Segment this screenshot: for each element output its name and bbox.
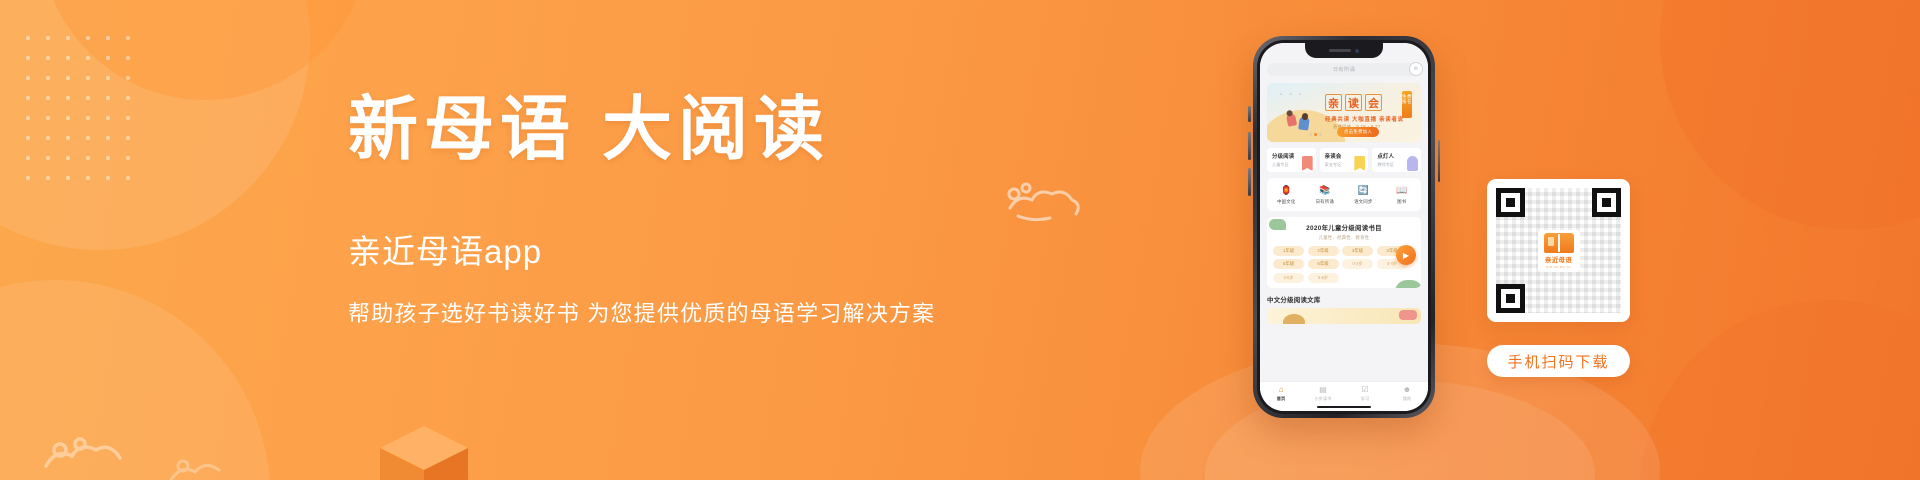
grade-pill[interactable]: 1年级 bbox=[1273, 246, 1304, 256]
phone-bezel: 日有所诵 ✉ ⌃ ⌃ ⌃ 亲 读 会 免费报名 bbox=[1257, 40, 1431, 414]
person-purple-icon bbox=[1407, 156, 1418, 171]
qr-finder-bottom-left bbox=[1496, 284, 1525, 313]
play-icon[interactable]: ▶ bbox=[1396, 245, 1416, 265]
qr-finder-top-right bbox=[1592, 188, 1621, 217]
hero-title: 亲 读 会 bbox=[1325, 94, 1382, 111]
books-icon: 📚 bbox=[1318, 184, 1331, 197]
carousel-dot[interactable] bbox=[1309, 133, 1312, 136]
decorative-cube bbox=[380, 426, 468, 480]
library-section-title: 中文分级阅读文库 bbox=[1267, 295, 1421, 304]
tab-label: 首页 bbox=[1277, 396, 1285, 402]
decorative-dot-grid bbox=[18, 28, 146, 193]
search-input[interactable]: 日有所诵 ✉ bbox=[1267, 63, 1421, 76]
tab-reading[interactable]: ▤ 小步读书 bbox=[1302, 386, 1344, 402]
grade-pill[interactable]: 2年级 bbox=[1308, 246, 1339, 256]
leaf-decoration-left bbox=[1269, 219, 1286, 230]
tagline: 帮助孩子选好书读好书 为您提供优质的母语学习解决方案 bbox=[348, 300, 1028, 329]
carousel-dot-active[interactable] bbox=[1314, 133, 1317, 136]
bookmark-red-icon bbox=[1302, 156, 1313, 171]
bookmark-yellow-icon bbox=[1354, 156, 1365, 171]
phone-volume-down-button bbox=[1248, 168, 1251, 196]
book-icon: 📖 bbox=[1395, 184, 1408, 197]
decorative-cloud-b bbox=[40, 432, 136, 476]
camera-icon bbox=[1355, 49, 1359, 53]
profile-icon: ☻ bbox=[1403, 386, 1411, 394]
app-home-screen: 日有所诵 ✉ ⌃ ⌃ ⌃ 亲 读 会 免费报名 bbox=[1260, 43, 1428, 411]
quick-link-label: 日有所诵 bbox=[1316, 199, 1334, 205]
speaker-icon bbox=[1329, 49, 1351, 52]
hero-title-char: 亲 bbox=[1325, 94, 1342, 111]
brand-pinyin: QIN JIN MU YU bbox=[1546, 265, 1571, 269]
tab-label: 学习 bbox=[1361, 396, 1369, 402]
hero-title-char: 读 bbox=[1345, 94, 1362, 111]
decorative-circle-top-left-2 bbox=[40, 0, 370, 100]
grade-pill[interactable]: 3年级 bbox=[1342, 246, 1373, 256]
library-card[interactable] bbox=[1267, 308, 1421, 324]
grade-pill[interactable]: 5年级 bbox=[1273, 259, 1304, 269]
quick-link-daily-recitation[interactable]: 📚 日有所诵 bbox=[1306, 184, 1345, 205]
booklist-section: 2020年儿童分级阅读书目 儿童性、经典性、教育性 1年级 2年级 3年级 4年… bbox=[1267, 217, 1421, 288]
hero-ribbon: 免费报名 bbox=[1402, 91, 1412, 118]
headline-part-2: 大阅读 bbox=[602, 92, 830, 169]
hero-birds-illustration: ⌃ ⌃ ⌃ bbox=[1279, 93, 1304, 99]
hero-child-illustration-2 bbox=[1298, 116, 1310, 130]
quick-links-row: 🏮 中国文化 📚 日有所诵 🔄 语文同步 📖 bbox=[1267, 178, 1421, 211]
hero-subtitle: 经典共读 大咖直播 亲读者说 bbox=[1325, 115, 1404, 123]
message-icon[interactable]: ✉ bbox=[1409, 62, 1423, 76]
carousel-dot[interactable] bbox=[1319, 133, 1322, 136]
category-card-teacher[interactable]: 点灯人 教师专区 bbox=[1372, 148, 1421, 172]
copy-block: 新母语大阅读 亲近母语app 帮助孩子选好书读好书 为您提供优质的母语学习解决方… bbox=[348, 96, 1028, 328]
search-placeholder: 日有所诵 bbox=[1333, 66, 1355, 73]
hero-title-char: 会 bbox=[1365, 94, 1382, 111]
home-indicator bbox=[1317, 406, 1371, 409]
decorative-circle-top-left bbox=[0, 0, 310, 250]
sync-icon: 🔄 bbox=[1357, 184, 1370, 197]
age-pill[interactable]: 5-6岁 bbox=[1308, 273, 1339, 283]
tab-home[interactable]: ⌂ 首页 bbox=[1260, 386, 1302, 402]
quick-link-label: 中国文化 bbox=[1277, 199, 1295, 205]
decorative-circle-top-right bbox=[1660, 0, 1920, 230]
decorative-circle-bottom-right bbox=[1640, 300, 1920, 480]
page-title: 新母语大阅读 bbox=[348, 96, 1028, 166]
tab-label: 我的 bbox=[1403, 396, 1411, 402]
hero-banner[interactable]: ⌃ ⌃ ⌃ 亲 读 会 免费报名 经典共读 大咖直播 亲读者说 直播回放 · 9… bbox=[1267, 83, 1421, 142]
qr-code-card: 亲近母语 QIN JIN MU YU bbox=[1487, 179, 1630, 322]
grade-pill[interactable]: 6年级 bbox=[1308, 259, 1339, 269]
phone-mockup: 日有所诵 ✉ ⌃ ⌃ ⌃ 亲 读 会 免费报名 bbox=[1253, 36, 1435, 418]
carousel-dots[interactable] bbox=[1309, 133, 1322, 136]
library-illustration bbox=[1283, 314, 1305, 324]
tab-study[interactable]: ☑ 学习 bbox=[1344, 386, 1386, 402]
category-cards: 分级阅读 儿童专区 亲读会 家长专区 点灯人 教师专区 bbox=[1267, 148, 1421, 172]
download-button[interactable]: 手机扫码下载 bbox=[1487, 345, 1630, 377]
tab-label: 小步读书 bbox=[1315, 396, 1332, 402]
app-name: 亲近母语app bbox=[348, 232, 1028, 272]
phone-volume-up-button bbox=[1248, 132, 1251, 160]
read-icon: ▤ bbox=[1319, 386, 1327, 394]
phone-power-button bbox=[1438, 140, 1441, 182]
age-pill[interactable]: 0-3岁 bbox=[1342, 259, 1373, 269]
phone-mute-switch bbox=[1248, 106, 1251, 122]
lantern-icon: 🏮 bbox=[1280, 184, 1293, 197]
open-book-icon bbox=[1544, 233, 1574, 253]
hero-join-button[interactable]: 点击免费加入 bbox=[1337, 127, 1379, 137]
age-pill[interactable]: 4-5岁 bbox=[1273, 273, 1304, 283]
promo-banner: 新母语大阅读 亲近母语app 帮助孩子选好书读好书 为您提供优质的母语学习解决方… bbox=[0, 0, 1920, 480]
decorative-circle-bottom-left bbox=[0, 280, 270, 480]
brand-name: 亲近母语 bbox=[1545, 254, 1572, 264]
quick-link-label: 图书 bbox=[1397, 199, 1406, 205]
tab-profile[interactable]: ☻ 我的 bbox=[1386, 386, 1428, 402]
library-illustration-2 bbox=[1399, 310, 1417, 320]
study-icon: ☑ bbox=[1361, 386, 1368, 394]
quick-link-chinese-culture[interactable]: 🏮 中国文化 bbox=[1267, 184, 1306, 205]
qr-center-logo: 亲近母语 QIN JIN MU YU bbox=[1538, 230, 1580, 272]
category-card-graded-reading[interactable]: 分级阅读 儿童专区 bbox=[1267, 148, 1316, 172]
phone-notch bbox=[1305, 43, 1383, 58]
booklist-title: 2020年儿童分级阅读书目 bbox=[1273, 223, 1415, 232]
quick-link-sync-chinese[interactable]: 🔄 语文同步 bbox=[1344, 184, 1383, 205]
phone-screen: 日有所诵 ✉ ⌃ ⌃ ⌃ 亲 读 会 免费报名 bbox=[1260, 43, 1428, 411]
quick-link-label: 语文同步 bbox=[1354, 199, 1372, 205]
grade-filter-group: 1年级 2年级 3年级 4年级 5年级 6年级 0-3岁 3-4岁 4-5岁 5… bbox=[1273, 246, 1415, 283]
qr-finder-top-left bbox=[1496, 188, 1525, 217]
booklist-subtitle: 儿童性、经典性、教育性 bbox=[1273, 235, 1415, 241]
decorative-cloud-c bbox=[165, 452, 245, 480]
quick-link-books[interactable]: 📖 图书 bbox=[1383, 184, 1422, 205]
qr-code-image: 亲近母语 QIN JIN MU YU bbox=[1496, 188, 1621, 313]
home-icon: ⌂ bbox=[1279, 386, 1284, 394]
category-card-parent-club[interactable]: 亲读会 家长专区 bbox=[1320, 148, 1369, 172]
headline-part-1: 新母语 bbox=[348, 92, 576, 169]
